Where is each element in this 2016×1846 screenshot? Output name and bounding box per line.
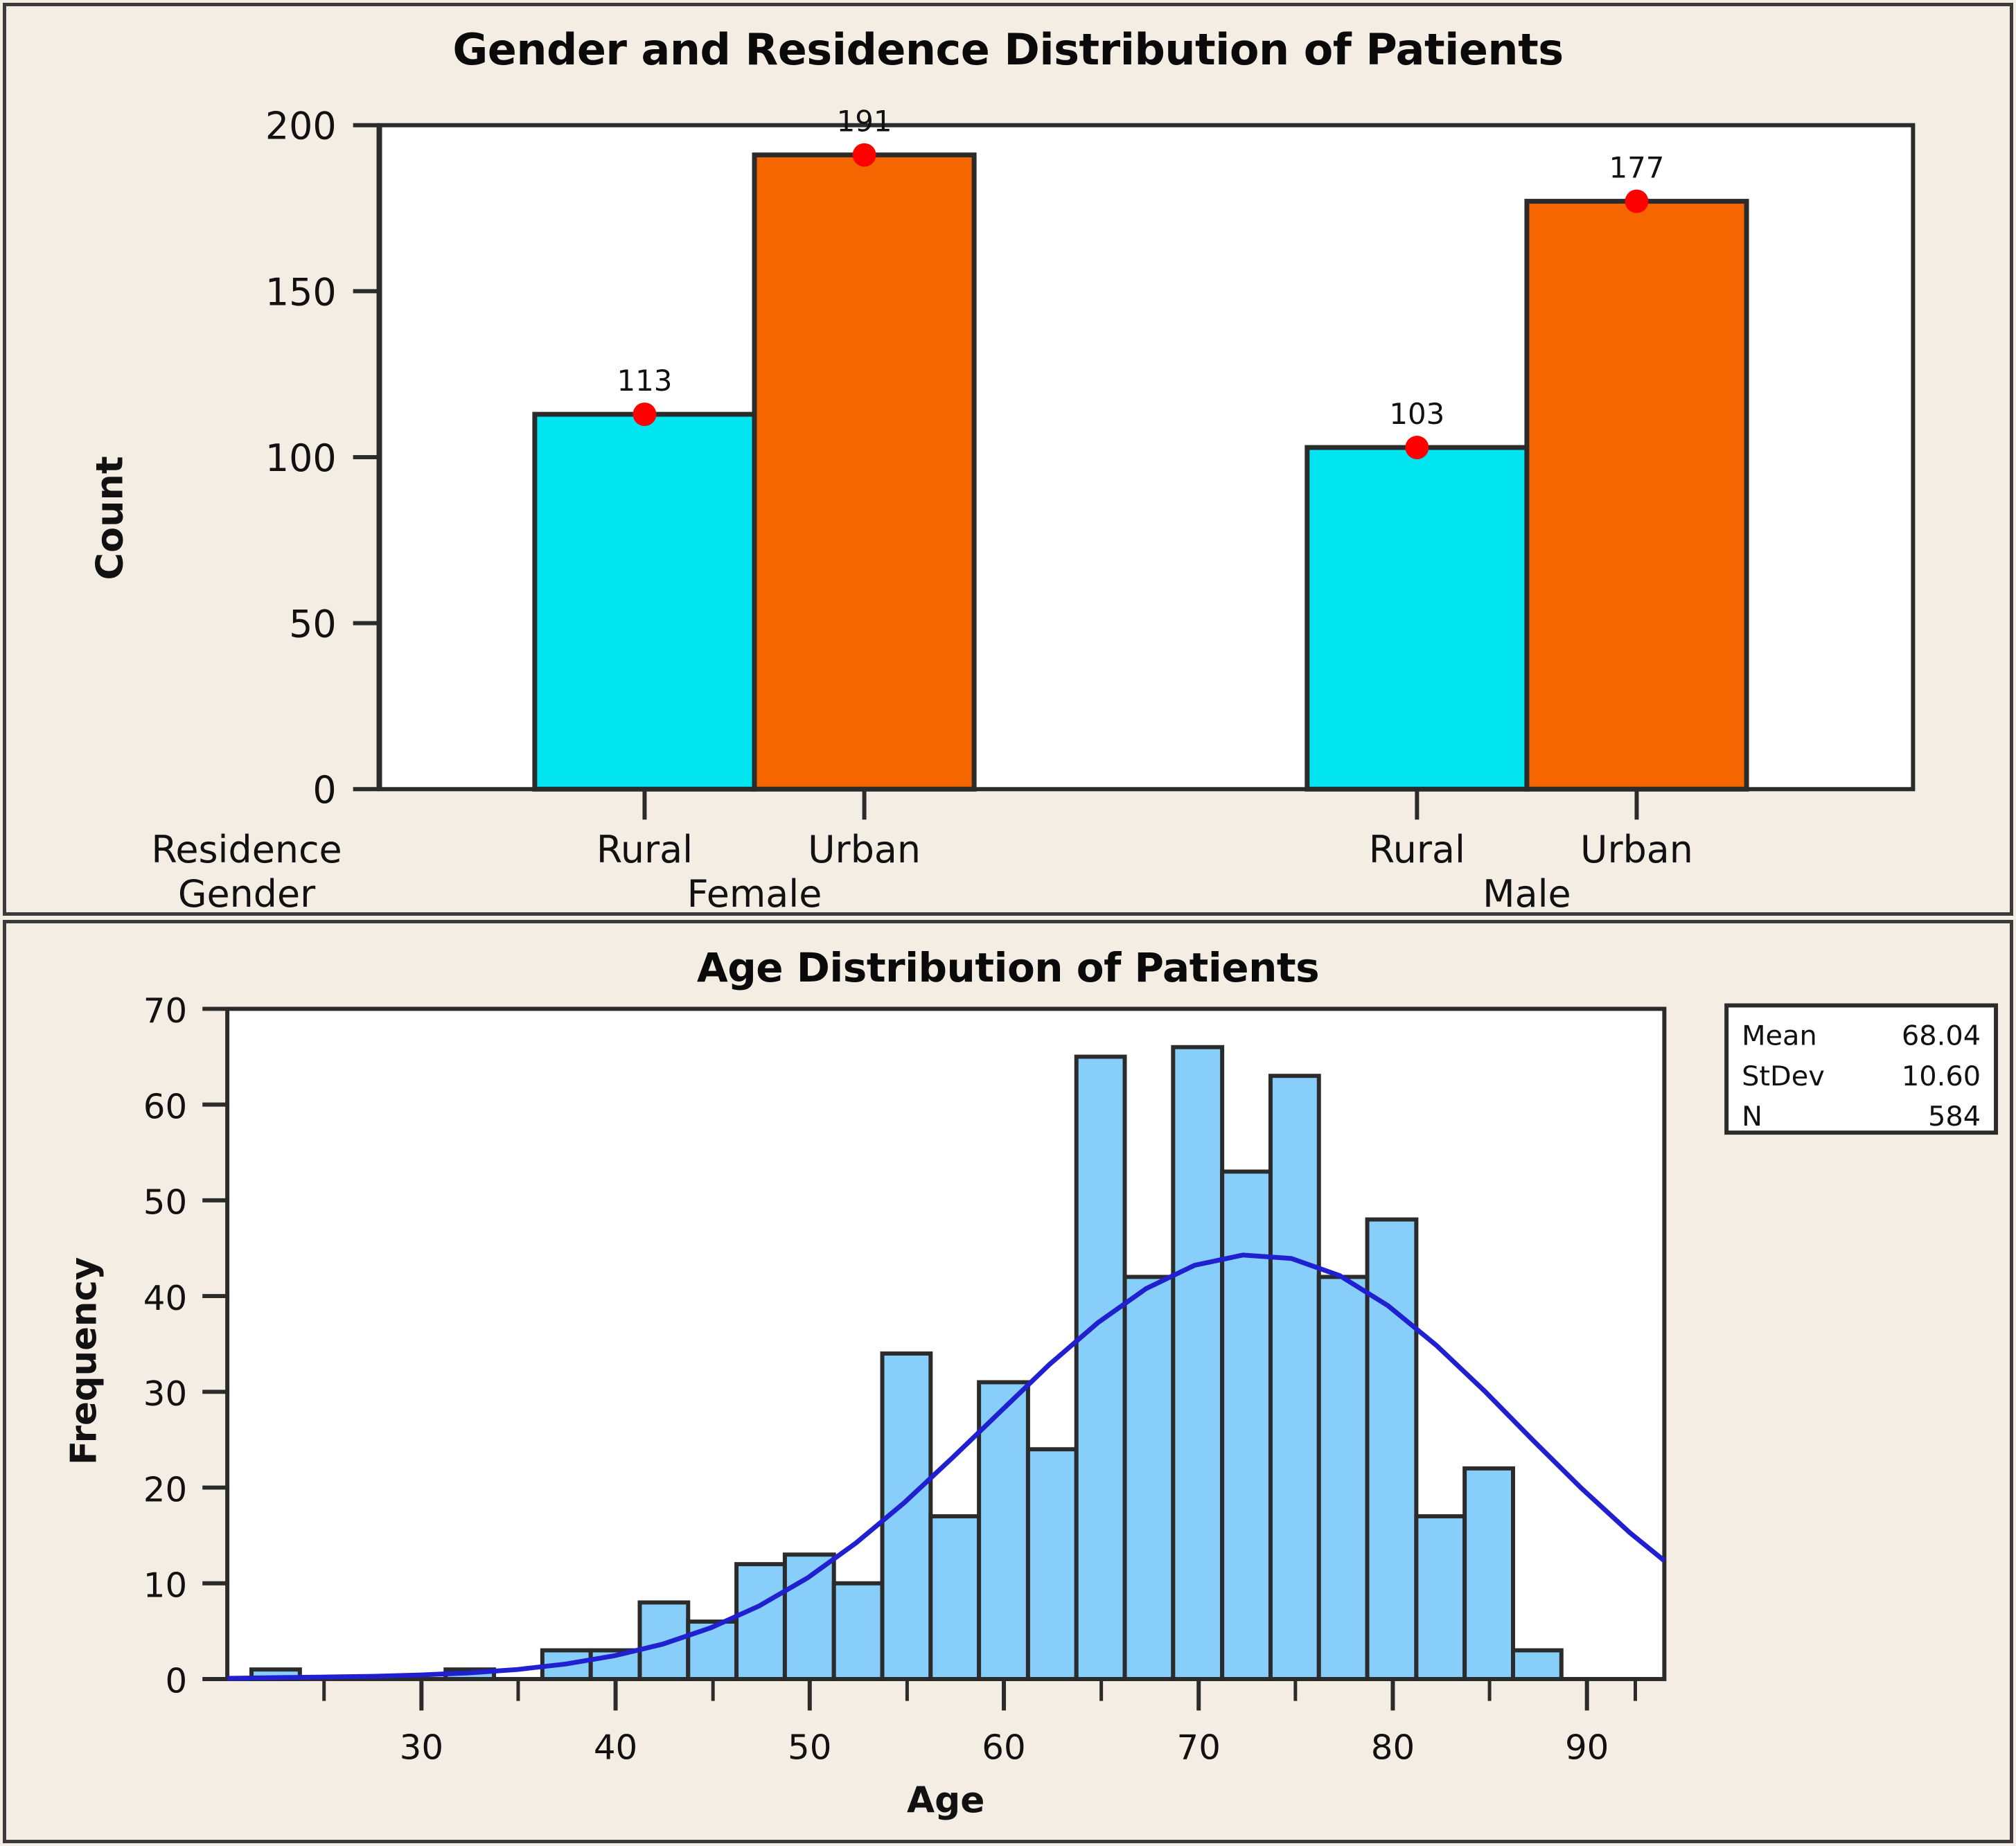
hist-y-tick-label: 70 [143, 991, 187, 1031]
hist-y-tick-label: 40 [143, 1278, 187, 1318]
x-cat-female-rural: Rural [596, 828, 693, 871]
bar-male-rural[interactable] [1307, 447, 1527, 789]
hist-y-tick-70: 70 [143, 991, 227, 1031]
x-cat-female-urban: Urban [808, 828, 921, 871]
hist-x-tick-label: 80 [1371, 1728, 1415, 1768]
hist-bar[interactable] [1077, 1057, 1125, 1679]
bar-label-female-rural: 113 [617, 364, 672, 398]
gender-residence-panel: Gender and Residence Distribution of Pat… [3, 3, 2013, 916]
age-distribution-panel: Age Distribution of Patients 70 60 [3, 920, 2013, 1843]
hist-y-tick-label: 60 [143, 1087, 187, 1127]
hist-y-tick-30: 30 [143, 1374, 227, 1414]
hist-bar[interactable] [1271, 1076, 1319, 1679]
stats-value-n: 584 [1928, 1101, 1981, 1133]
bar-y-tick-100: 100 [265, 436, 380, 480]
bar-label-female-urban: 191 [837, 105, 892, 139]
gender-residence-plot: 200 150 100 50 [6, 6, 2010, 912]
stats-label-n: N [1742, 1101, 1762, 1133]
x-cat-male-rural: Rural [1369, 828, 1465, 871]
hist-y-axis: 70 60 50 40 [63, 991, 227, 1701]
hist-bar[interactable] [1028, 1449, 1077, 1679]
age-distribution-plot: 70 60 50 40 [6, 923, 2010, 1840]
marker-icon-male-rural [1405, 436, 1429, 459]
screenshot-root: Gender and Residence Distribution of Pat… [0, 0, 2016, 1846]
hist-bar[interactable] [1319, 1277, 1368, 1679]
hist-bar[interactable] [1368, 1220, 1417, 1679]
hist-bar[interactable] [834, 1583, 883, 1679]
marker-icon-male-urban [1625, 190, 1649, 213]
hist-y-tick-10: 10 [143, 1565, 227, 1606]
hist-bar[interactable] [639, 1602, 688, 1679]
hist-bar[interactable] [1416, 1516, 1465, 1679]
hist-x-axis: 30 40 50 60 70 80 90 Age [324, 1679, 1636, 1821]
x-group-male: Male [1483, 872, 1571, 912]
hist-x-tick-label: 50 [788, 1728, 831, 1768]
bar-male-urban[interactable] [1527, 202, 1747, 790]
hist-bar[interactable] [1125, 1277, 1174, 1679]
bar-label-male-rural: 103 [1389, 397, 1444, 431]
hist-y-tick-label: 0 [166, 1661, 188, 1701]
stats-box: Mean 68.04 StDev 10.60 N 584 [1726, 1005, 1996, 1133]
hist-bar[interactable] [736, 1564, 785, 1679]
stats-value-stdev: 10.60 [1902, 1060, 1981, 1092]
hist-x-tick-label: 40 [594, 1728, 637, 1768]
hist-x-axis-title: Age [907, 1780, 984, 1822]
hist-bar[interactable] [1222, 1171, 1271, 1679]
bar-x-axis: Rural Urban Rural Urban Female Male Resi… [151, 789, 1693, 912]
marker-icon-female-urban [853, 143, 876, 167]
bar-y-tick-label: 100 [265, 436, 337, 480]
hist-bar[interactable] [688, 1622, 736, 1679]
axis-row-label-gender: Gender [178, 872, 316, 912]
stats-label-mean: Mean [1742, 1020, 1817, 1052]
bar-y-tick-150: 150 [265, 270, 380, 314]
hist-bar[interactable] [1465, 1468, 1513, 1679]
axis-row-label-residence: Residence [151, 828, 342, 871]
hist-y-tick-0: 0 [166, 1661, 228, 1701]
histogram-svg: 70 60 50 40 [6, 923, 2010, 1840]
bar-y-tick-label: 200 [265, 105, 337, 148]
bar-female-rural[interactable] [535, 414, 754, 789]
hist-bar[interactable] [930, 1516, 979, 1679]
hist-y-tick-50: 50 [143, 1182, 227, 1223]
hist-bar[interactable] [1173, 1047, 1222, 1679]
bar-y-tick-label: 0 [312, 768, 336, 812]
hist-y-tick-label: 30 [143, 1374, 187, 1414]
x-group-female: Female [687, 872, 822, 912]
bar-y-tick-200: 200 [265, 105, 380, 148]
stats-value-mean: 68.04 [1902, 1020, 1981, 1052]
stats-label-stdev: StDev [1742, 1060, 1825, 1092]
bar-y-axis-title: Count [88, 456, 132, 580]
hist-x-tick-label: 60 [982, 1728, 1025, 1768]
hist-y-tick-40: 40 [143, 1278, 227, 1318]
hist-bar[interactable] [1513, 1651, 1562, 1679]
bar-y-axis: 200 150 100 50 [88, 105, 380, 813]
hist-y-axis-title: Frequency [63, 1257, 105, 1465]
hist-y-tick-label: 20 [143, 1470, 187, 1510]
bar-chart-svg: 200 150 100 50 [6, 6, 2010, 912]
hist-y-tick-label: 10 [143, 1565, 187, 1606]
hist-y-tick-label: 50 [143, 1182, 187, 1223]
hist-x-tick-label: 30 [400, 1728, 443, 1768]
bar-y-tick-label: 50 [289, 603, 337, 646]
hist-y-tick-20: 20 [143, 1470, 227, 1510]
hist-bar[interactable] [785, 1554, 834, 1679]
hist-y-tick-60: 60 [143, 1087, 227, 1127]
hist-x-tick-label: 70 [1177, 1728, 1221, 1768]
bar-label-male-urban: 177 [1609, 151, 1665, 185]
hist-x-tick-label: 90 [1565, 1728, 1609, 1768]
bar-female-urban[interactable] [754, 155, 974, 790]
x-cat-male-urban: Urban [1580, 828, 1693, 871]
marker-icon-female-rural [633, 402, 656, 426]
bar-y-tick-0: 0 [312, 768, 379, 812]
bar-y-tick-50: 50 [289, 603, 379, 646]
bar-y-tick-label: 150 [265, 270, 337, 314]
